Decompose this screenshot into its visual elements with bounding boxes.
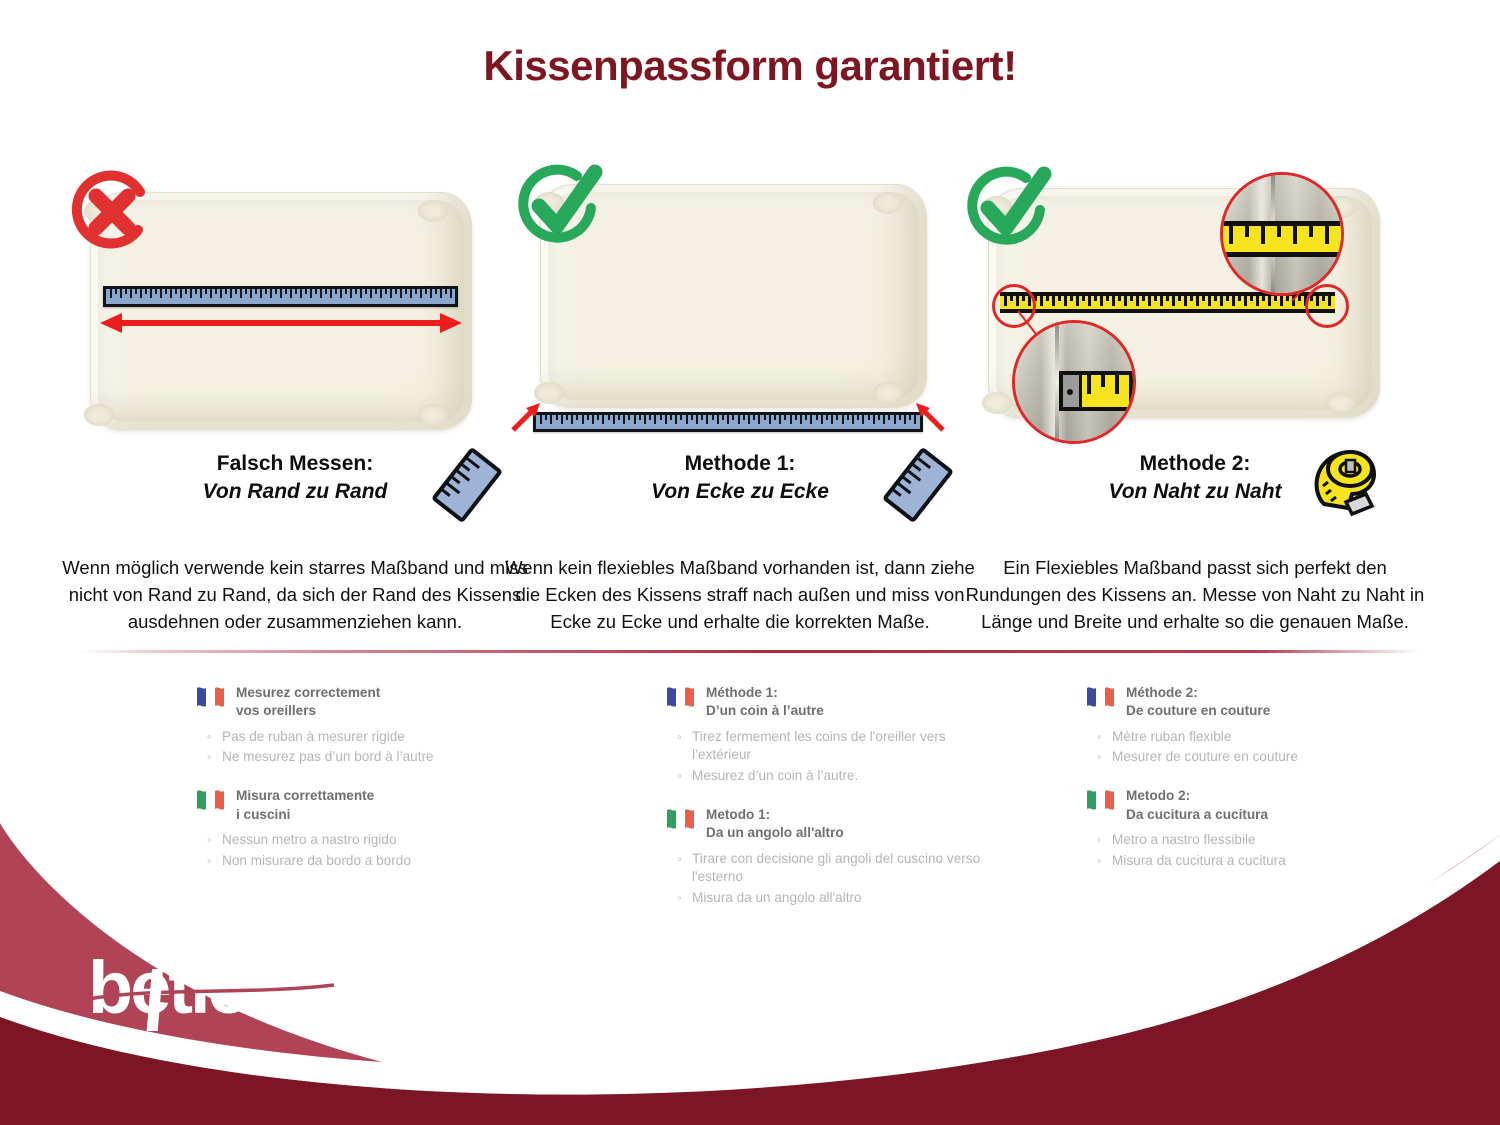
column-methode-1: Methode 1: Von Ecke zu Ecke bbox=[505, 160, 975, 640]
column-body-text: Wenn kein flexiebles Maßband vorhanden i… bbox=[505, 554, 975, 636]
column-heading-block: Falsch Messen: Von Rand zu Rand bbox=[60, 450, 530, 540]
lang-title-line-1: Méthode 1: bbox=[706, 685, 778, 700]
list-item: ◦Mesurer de couture en couture bbox=[1097, 748, 1415, 767]
pillow-corner-ear bbox=[418, 404, 448, 426]
callout-target-left bbox=[992, 284, 1036, 328]
rigid-ruler bbox=[533, 412, 923, 432]
bullet-text: Pas de ruban à mesurer rigide bbox=[222, 728, 405, 747]
pillow-corner-ear bbox=[84, 404, 114, 426]
list-item: ◦Tirez fermement les coins de l'oreiller… bbox=[677, 728, 995, 766]
column-body-text: Ein Flexiebles Maßband passt sich perfek… bbox=[960, 554, 1430, 636]
column-heading-block: Methode 2: Von Naht zu Naht bbox=[960, 450, 1430, 540]
page-title: Kissenpassform garantiert! bbox=[0, 42, 1500, 90]
flag-france-icon bbox=[195, 685, 225, 709]
column-methode-2: Methode 2: Von Naht zu Naht bbox=[960, 160, 1430, 640]
method-columns: Falsch Messen: Von Rand zu Rand bbox=[0, 160, 1500, 640]
bullet-text: Mesurez d’un coin à l’autre. bbox=[692, 767, 858, 786]
corner-arrow-right bbox=[913, 400, 947, 434]
lang-title-line-1: Mesurez correctement bbox=[236, 685, 380, 700]
bullet-text: Tirez fermement les coins de l'oreiller … bbox=[692, 728, 995, 766]
seam-callout-top-right bbox=[1220, 172, 1344, 296]
check-badge bbox=[966, 166, 1050, 250]
bullet-text: Mètre ruban flexible bbox=[1112, 728, 1231, 747]
bullet-dot-icon: ◦ bbox=[1097, 748, 1112, 766]
ruler-icon bbox=[432, 448, 502, 522]
lang-title-line-1: Méthode 2: bbox=[1126, 685, 1198, 700]
seam-callout-bottom-left bbox=[1012, 320, 1136, 444]
brand-name: beties bbox=[88, 947, 285, 1029]
ruler-icon bbox=[883, 448, 953, 522]
bullet-dot-icon: ◦ bbox=[1097, 728, 1112, 746]
bullet-dot-icon: ◦ bbox=[207, 728, 222, 746]
lang-group-fr: Méthode 2: De couture en couture ◦Mètre … bbox=[1085, 684, 1415, 767]
list-item: ◦Mesurez d’un coin à l’autre. bbox=[677, 767, 995, 786]
brand-logo: beties bbox=[88, 947, 338, 1037]
pillow-corner-ear bbox=[873, 382, 903, 404]
bullet-text: Ne mesurez pas d’un bord à l’autre bbox=[222, 748, 434, 767]
lang-group-fr: Méthode 1: D’un coin à l’autre ◦Tirez fe… bbox=[665, 684, 995, 786]
illustration-wrong bbox=[60, 160, 530, 440]
pillow-corner-ear bbox=[1326, 392, 1356, 414]
check-badge bbox=[517, 164, 601, 248]
lang-title-line-2: vos oreillers bbox=[236, 702, 380, 720]
bullet-dot-icon: ◦ bbox=[207, 748, 222, 766]
bullet-dot-icon: ◦ bbox=[677, 767, 692, 785]
column-falsch-messen: Falsch Messen: Von Rand zu Rand bbox=[60, 160, 530, 640]
bullet-text: Mesurer de couture en couture bbox=[1112, 748, 1298, 767]
measure-arrow-edge-to-edge bbox=[100, 310, 462, 336]
pillow-corner-ear bbox=[418, 200, 448, 222]
list-item: ◦Mètre ruban flexible bbox=[1097, 728, 1415, 747]
section-divider bbox=[80, 650, 1420, 653]
illustration-seam-to-seam bbox=[960, 160, 1430, 440]
tape-measure-icon bbox=[1304, 442, 1382, 524]
illustration-corner-to-corner bbox=[505, 160, 975, 440]
infographic-page: Kissenpassform garantiert! bbox=[0, 0, 1500, 1125]
lang-group-fr: Mesurez correctement vos oreillers ◦Pas … bbox=[195, 684, 525, 767]
pillow-corner-ear bbox=[982, 392, 1012, 414]
rigid-ruler bbox=[103, 286, 458, 307]
lang-title-line-2: De couture en couture bbox=[1126, 702, 1270, 720]
bullet-dot-icon: ◦ bbox=[677, 728, 692, 746]
list-item: ◦Pas de ruban à mesurer rigide bbox=[207, 728, 525, 747]
pillow-corner-ear bbox=[873, 192, 903, 214]
flag-france-icon bbox=[665, 685, 695, 709]
column-heading-block: Methode 1: Von Ecke zu Ecke bbox=[505, 450, 975, 540]
corner-arrow-left bbox=[509, 400, 543, 434]
column-body-text: Wenn möglich verwende kein starres Maßba… bbox=[60, 554, 530, 636]
flag-france-icon bbox=[1085, 685, 1115, 709]
x-badge bbox=[70, 170, 154, 254]
list-item: ◦Ne mesurez pas d’un bord à l’autre bbox=[207, 748, 525, 767]
callout-target-right bbox=[1305, 284, 1349, 328]
lang-title-line-2: D’un coin à l’autre bbox=[706, 702, 824, 720]
